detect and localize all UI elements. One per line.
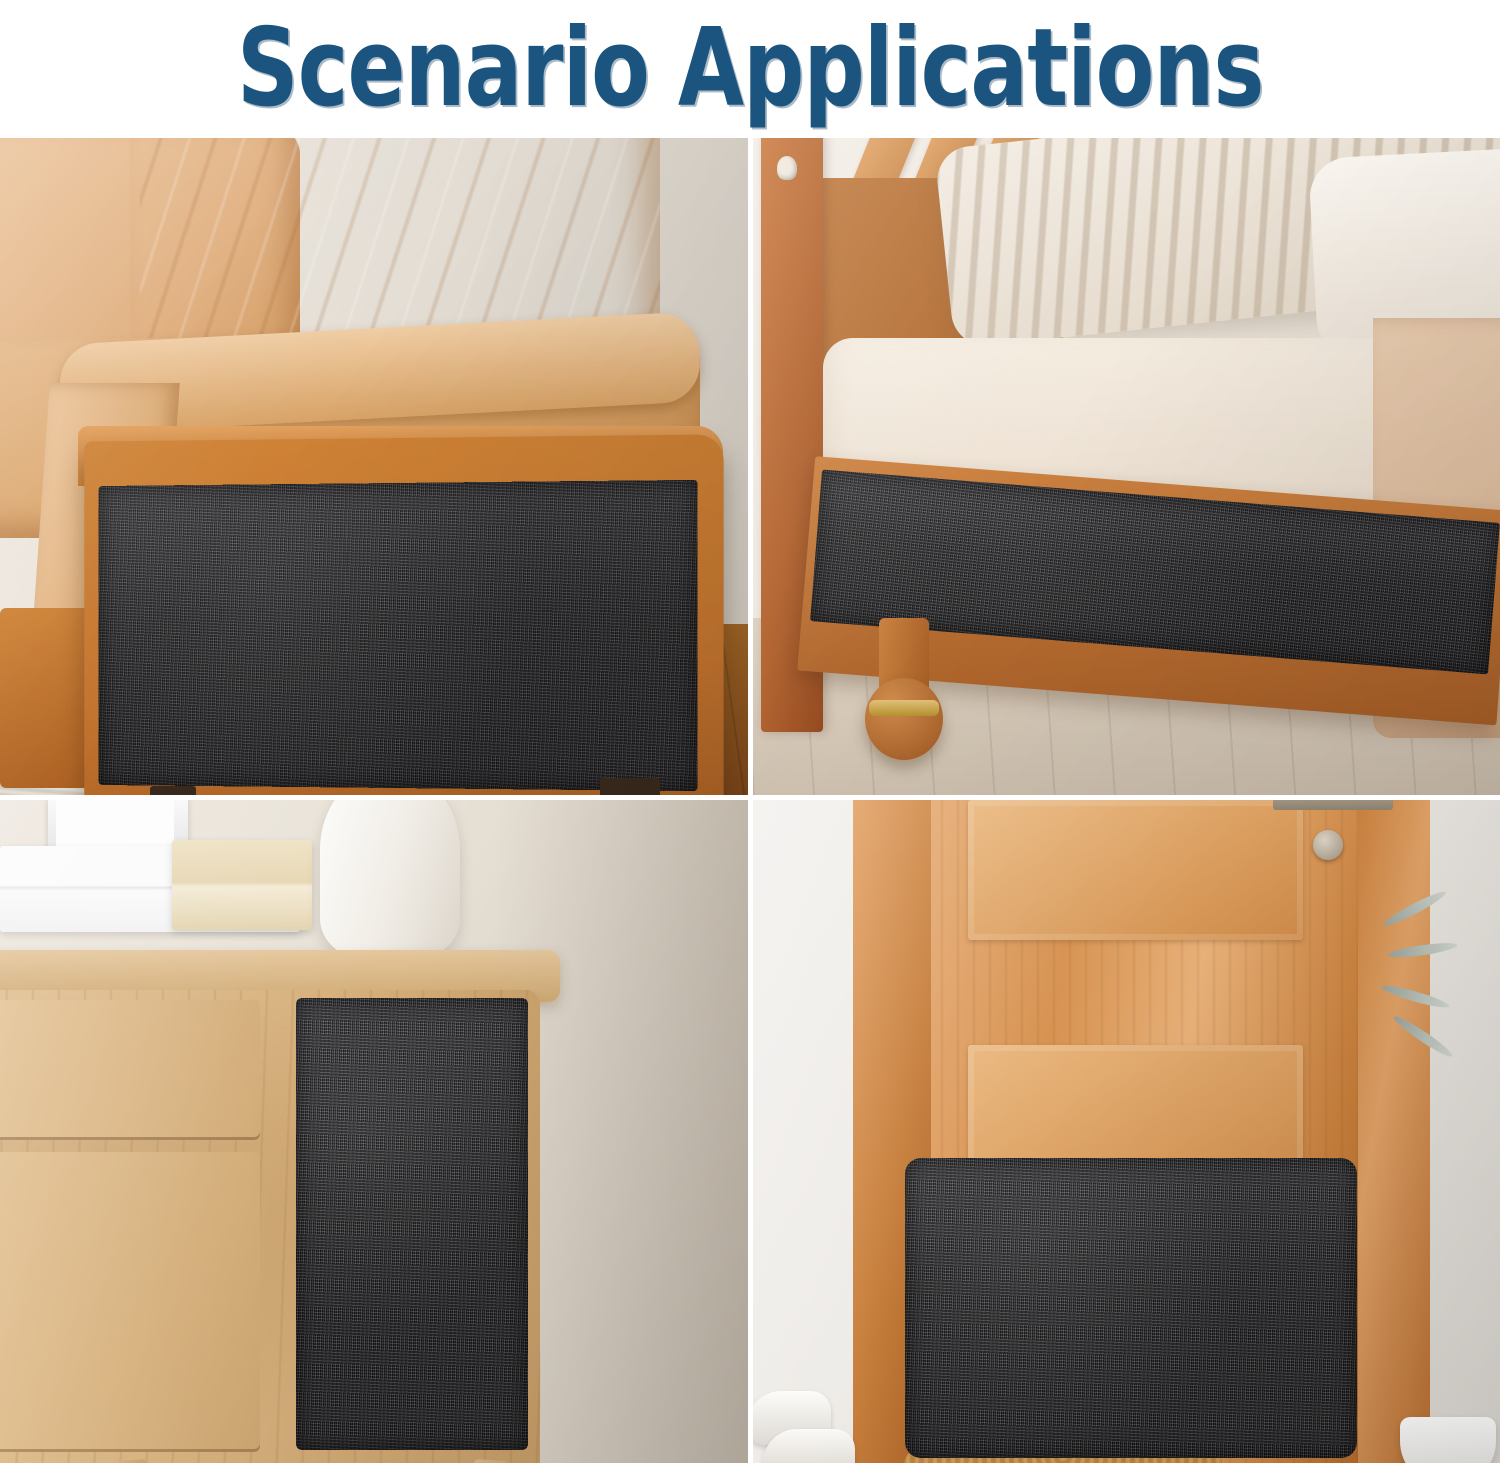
bed-leg-brass-ring (869, 700, 939, 716)
leaf (1381, 982, 1451, 1011)
clock-face (56, 800, 174, 852)
bed-photo (753, 138, 1500, 795)
bed-leg-ball (865, 678, 943, 760)
door-hinge-bar (1273, 800, 1393, 810)
ceramic-cup (1400, 1417, 1496, 1463)
page-title: Scenario Applications (237, 15, 1264, 123)
book-stack-secondary (172, 840, 312, 930)
scratch-mat-on-cabinet (296, 998, 528, 1450)
scenario-applications-page: Scenario Applications (0, 0, 1500, 1463)
shoe-right (763, 1429, 855, 1463)
scenario-grid: sofas (0, 138, 1500, 1463)
plant-branches (1374, 890, 1494, 1090)
page-header: Scenario Applications (0, 0, 1500, 138)
white-vase (320, 800, 460, 960)
sofa-leg-right (600, 778, 660, 795)
leaf (1387, 940, 1458, 960)
leaf (1382, 888, 1449, 930)
nightstand-photo (0, 800, 748, 1463)
door-photo (753, 800, 1500, 1463)
nightstand-drawer-bottom (0, 1152, 260, 1452)
sofa-photo (0, 138, 748, 795)
door-panel-upper (968, 800, 1303, 940)
scratch-mat-on-door (905, 1158, 1357, 1458)
leaf (1391, 1013, 1455, 1060)
scenario-cell-sofas[interactable]: sofas (0, 138, 748, 795)
scenario-cell-bedroom-door[interactable]: bedroom door (753, 800, 1500, 1463)
scenario-cell-couch[interactable]: couch (753, 138, 1500, 795)
door-hinge-screw-icon (1313, 830, 1343, 860)
scenario-cell-compartment[interactable]: compartment (0, 800, 748, 1463)
sofa-leg-left (150, 786, 196, 795)
nightstand-drawer-top (0, 1000, 260, 1140)
scratch-mat-on-sofa (99, 480, 698, 791)
bed-post-knob (777, 156, 797, 180)
